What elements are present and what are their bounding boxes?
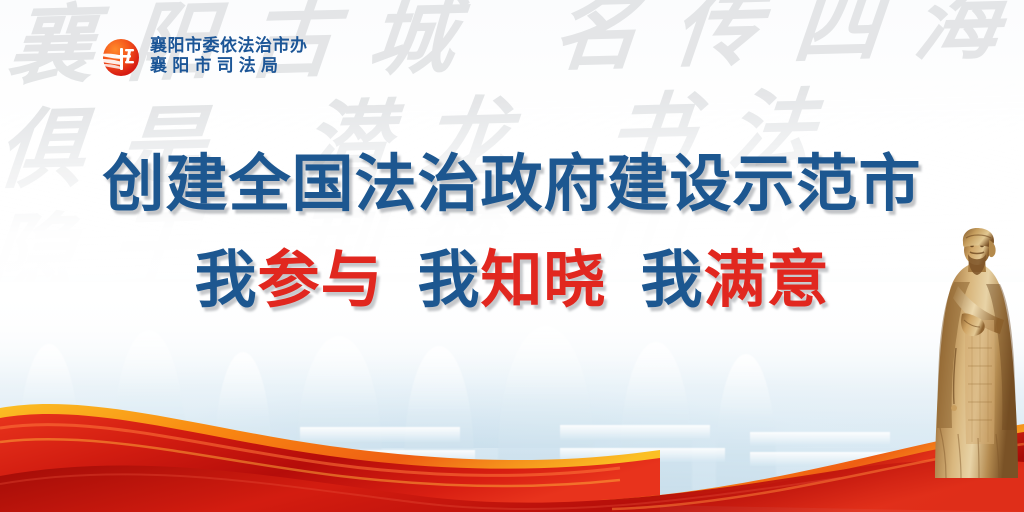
promotional-banner: 襄阳古城 名传四海 俱是 潜龙 书法 隐于 荆楚 山水 相映 而生 墨韵 悠然 …: [0, 0, 1024, 512]
organization-name: 襄阳市委依法治市办 襄阳市司法局: [150, 36, 308, 77]
slogan-segment-4: 知晓: [481, 243, 607, 316]
headline-primary: 创建全国法治政府建设示范市: [0, 148, 1024, 220]
slogan-segment-5: 我: [641, 243, 704, 316]
slogan-segment-3: 我: [417, 243, 480, 316]
logo-line-1: 襄阳市委依法治市办: [150, 36, 308, 56]
headline-slogan: 我参与我知晓我满意: [0, 243, 1024, 317]
justice-emblem-icon: [100, 37, 140, 77]
slogan-segment-1: 我: [194, 243, 257, 316]
slogan-segment-6: 满意: [704, 243, 830, 316]
logo-line-2: 襄阳市司法局: [150, 56, 308, 77]
slogan-segment-2: 参与: [257, 243, 383, 316]
red-ribbon-decoration: [0, 372, 1024, 512]
organization-logo: 襄阳市委依法治市办 襄阳市司法局: [100, 36, 308, 77]
